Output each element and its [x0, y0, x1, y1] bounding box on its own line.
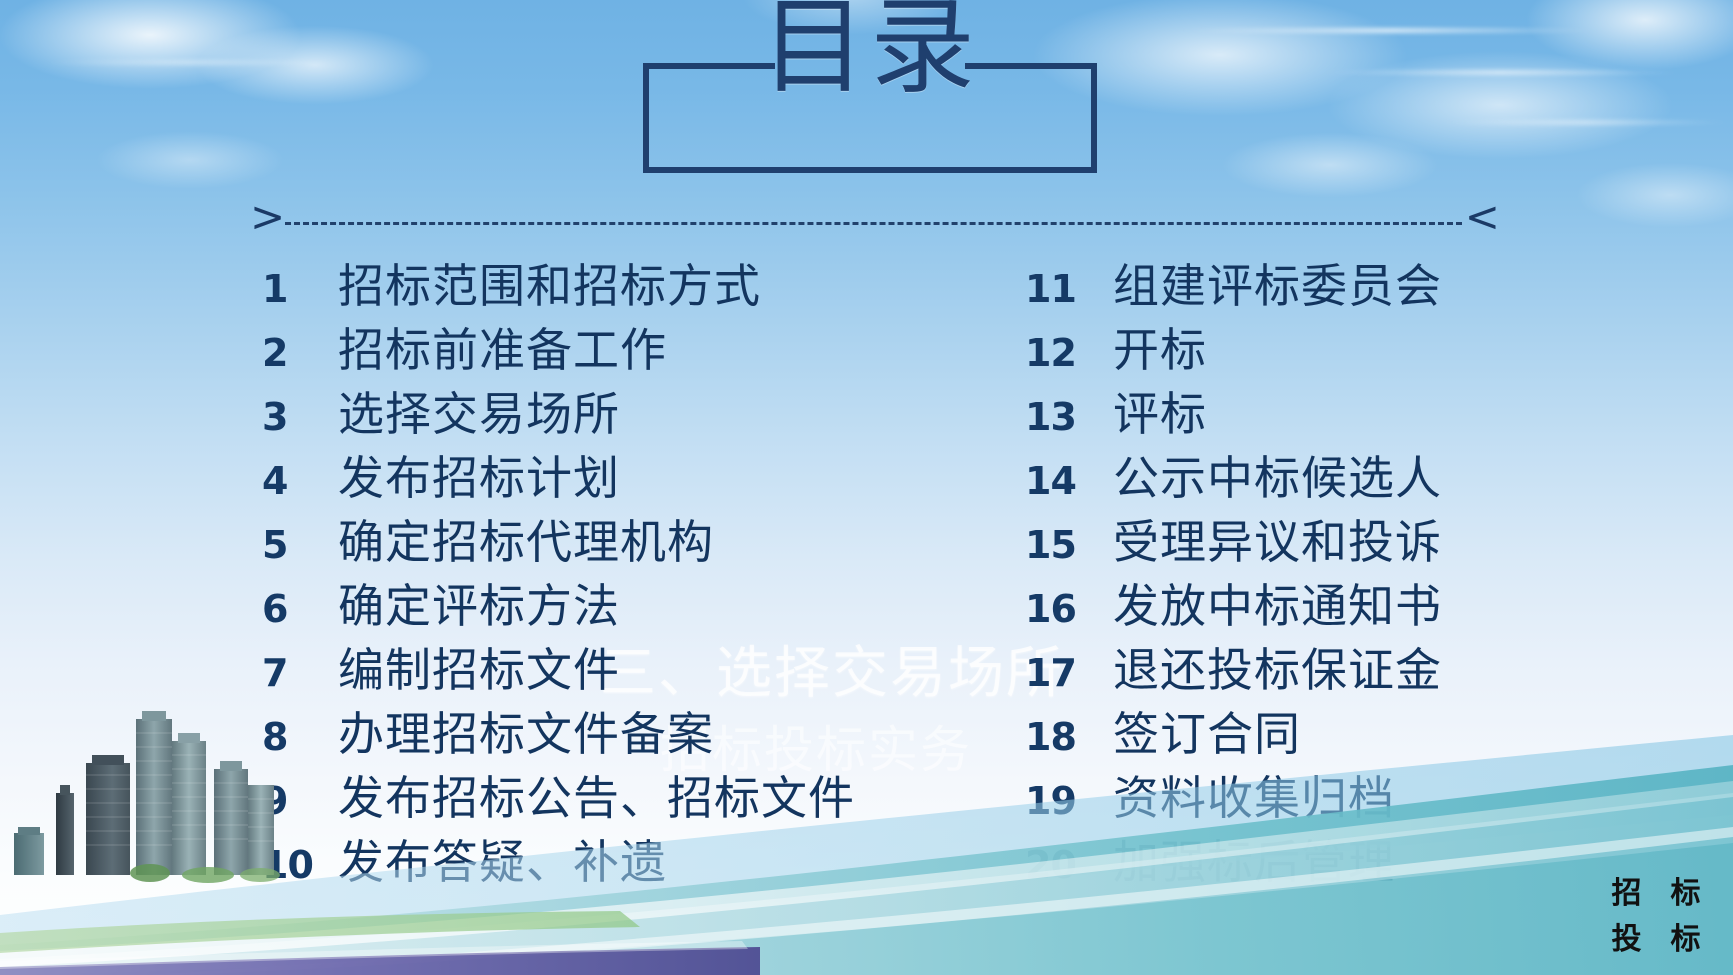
toc-label: 选择交易场所 — [338, 378, 620, 444]
cloud-decoration — [1180, 120, 1480, 210]
list-item[interactable]: 5 确定招标代理机构 — [262, 506, 922, 570]
toc-number: 12 — [1025, 331, 1113, 375]
list-item[interactable]: 3 选择交易场所 — [262, 378, 922, 442]
page-title: 目录 — [643, 0, 1097, 100]
toc-label: 招标前准备工作 — [338, 314, 667, 380]
cloud-streak — [1180, 28, 1600, 33]
toc-label: 公示中标候选人 — [1113, 442, 1442, 508]
dashed-rule — [285, 222, 1462, 225]
city-skyline-graphic — [8, 683, 308, 883]
cloud-decoration — [1480, 0, 1733, 90]
cloud-streak — [1440, 120, 1730, 125]
stamp-char: 招 — [1612, 879, 1642, 909]
list-item[interactable]: 2 招标前准备工作 — [262, 314, 922, 378]
toc-number: 15 — [1025, 523, 1113, 567]
toc-label: 评标 — [1113, 378, 1207, 444]
cloud-decoration — [60, 120, 320, 200]
stamp-char: 标 — [1671, 925, 1701, 955]
toc-number: 3 — [262, 395, 338, 439]
toc-label: 招标范围和招标方式 — [338, 250, 761, 316]
divider: > < — [250, 218, 1500, 228]
presentation-slide: 三、选择交易场所 招标投标实务 目录 > < 1 招标范围和招标方式 2 招标前… — [0, 0, 1733, 975]
list-item[interactable]: 15 受理异议和投诉 — [1025, 506, 1645, 570]
list-item[interactable]: 13 评标 — [1025, 378, 1645, 442]
cloud-streak — [1320, 70, 1680, 75]
toc-label: 发布招标计划 — [338, 442, 620, 508]
toc-number: 14 — [1025, 459, 1113, 503]
chevron-right-icon: > — [250, 196, 285, 238]
slide-title-block: 目录 — [643, 63, 1097, 173]
toc-number: 1 — [262, 267, 338, 311]
toc-label: 受理异议和投诉 — [1113, 506, 1442, 572]
list-item[interactable]: 1 招标范围和招标方式 — [262, 250, 922, 314]
toc-label: 确定招标代理机构 — [338, 506, 714, 572]
stamp-char: 投 — [1612, 925, 1642, 955]
toc-number: 11 — [1025, 267, 1113, 311]
toc-number: 4 — [262, 459, 338, 503]
cloud-decoration — [150, 10, 480, 120]
list-item[interactable]: 4 发布招标计划 — [262, 442, 922, 506]
toc-number: 13 — [1025, 395, 1113, 439]
brand-stamp-logo: 招 标 投 标 — [1597, 871, 1715, 963]
cloud-decoration — [1260, 30, 1733, 180]
stamp-char: 标 — [1671, 879, 1701, 909]
chevron-left-icon: < — [1465, 196, 1500, 238]
cloud-streak — [40, 60, 340, 65]
toc-label: 开标 — [1113, 314, 1207, 380]
toc-number: 2 — [262, 331, 338, 375]
list-item[interactable]: 12 开标 — [1025, 314, 1645, 378]
toc-label: 组建评标委员会 — [1113, 250, 1442, 316]
list-item[interactable]: 11 组建评标委员会 — [1025, 250, 1645, 314]
toc-number: 5 — [262, 523, 338, 567]
list-item[interactable]: 14 公示中标候选人 — [1025, 442, 1645, 506]
cloud-decoration — [0, 0, 360, 110]
cloud-decoration — [1540, 150, 1733, 240]
